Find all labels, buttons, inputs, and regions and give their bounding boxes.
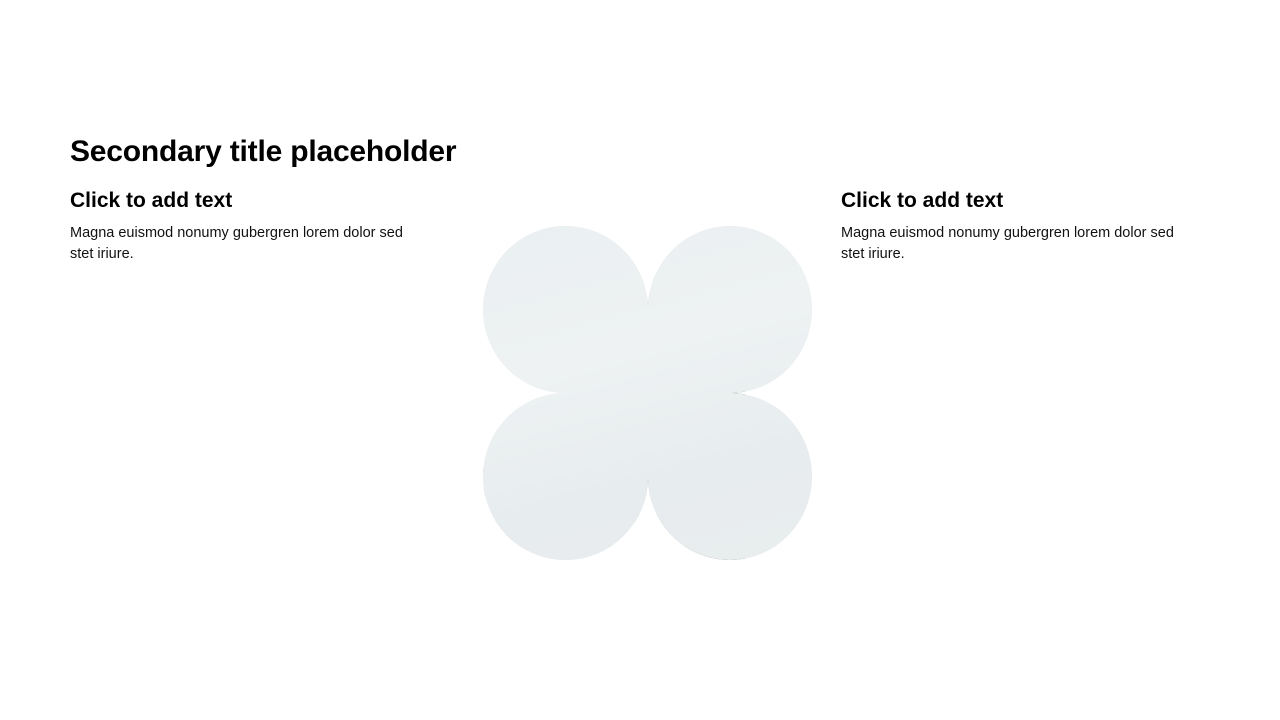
clover-petal-bottom-left [483,393,648,560]
photo-sky [648,226,813,393]
photo-sky [648,393,813,560]
clover-petal-bottom-right [648,393,813,560]
photo-artwork [483,226,648,393]
clover-petal-top-right [648,226,813,393]
text-column-right[interactable]: Click to add text Magna euismod nonumy g… [841,188,1193,265]
image-placeholder[interactable] [483,226,812,560]
column-right-heading[interactable]: Click to add text [841,188,1193,214]
page-title: Secondary title placeholder [70,134,456,169]
column-left-body[interactable]: Magna euismod nonumy gubergren lorem dol… [70,223,420,265]
photo-artwork [648,393,813,560]
photo-artwork [483,393,648,560]
photo-sky [483,226,648,393]
column-left-heading[interactable]: Click to add text [70,188,422,214]
photo-quadrant-bottom-left [483,393,648,560]
photo-quadrant-top-right [648,226,813,393]
clover-petal-top-left [483,226,648,393]
photo-artwork [648,226,813,393]
clover-mask [483,226,812,560]
column-right-body[interactable]: Magna euismod nonumy gubergren lorem dol… [841,223,1191,265]
text-column-left[interactable]: Click to add text Magna euismod nonumy g… [70,188,422,265]
slide-canvas: Secondary title placeholder Click to add… [0,0,1280,720]
photo-quadrant-top-left [483,226,648,393]
photo-quadrant-bottom-right [648,393,813,560]
photo-sky [483,393,648,560]
